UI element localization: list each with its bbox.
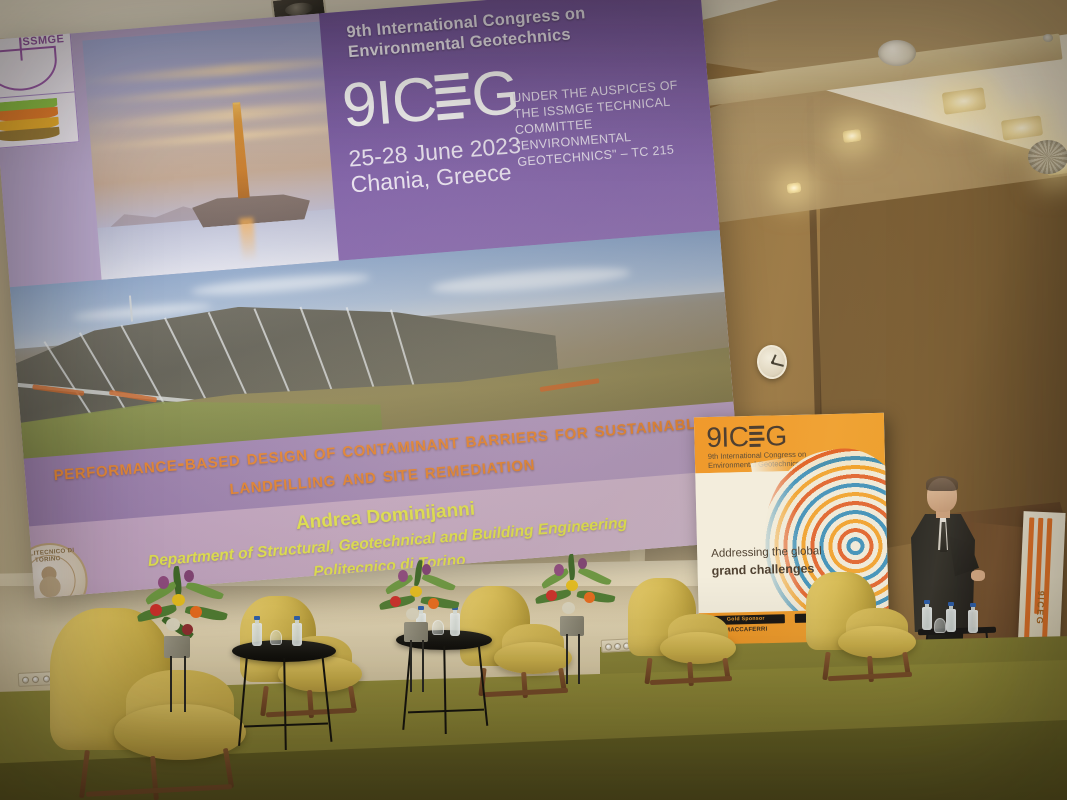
poster-logo-prefix: 9IC	[706, 421, 749, 454]
conference-hall-photo: 9th International Congress on Environmen…	[0, 0, 1067, 800]
water-bottle[interactable]	[292, 616, 302, 646]
projection-screen: 9th International Congress on Environmen…	[0, 0, 745, 598]
poster-logo-suffix: G	[765, 420, 787, 453]
poster-9iceg-logo: 9IC G	[706, 420, 787, 454]
side-table[interactable]	[232, 640, 336, 750]
flower-arrangement	[370, 556, 470, 676]
podium-logo-text: 9ICEG	[1035, 591, 1046, 626]
e-bars-glyph	[435, 71, 473, 126]
water-bottle	[946, 602, 956, 632]
ceiling-indicator-light	[842, 129, 861, 143]
slide-9iceg-logo: 9IC G	[340, 64, 521, 137]
ceiling-speaker	[878, 40, 916, 66]
ceiling-sensor	[1043, 34, 1053, 42]
poster-tagline-line1: Addressing the global	[711, 544, 831, 562]
slide-auspices-text: UNDER THE AUSPICES OF THE ISSMGE TECHNIC…	[512, 75, 708, 170]
armchair[interactable]	[800, 572, 920, 684]
e-bars-glyph	[749, 425, 765, 449]
issmge-logo-icon	[0, 46, 59, 94]
water-bottle[interactable]	[252, 616, 262, 646]
slide-congress-header: 9th International Congress on Environmen…	[346, 0, 648, 63]
logo-prefix: 9IC	[340, 71, 438, 137]
flower-arrangement	[528, 552, 624, 668]
slide-date-location: 25-28 June 2023 Chania, Greece	[348, 132, 524, 199]
soil-layers-icon	[0, 98, 60, 143]
drinking-glass	[934, 618, 946, 633]
water-bottle	[922, 600, 932, 630]
ceiling-vent	[1028, 140, 1067, 174]
drinking-glass[interactable]	[270, 630, 282, 645]
armchair[interactable]	[622, 578, 738, 686]
water-bottle	[968, 603, 978, 633]
ceiling-indicator-light	[786, 182, 801, 194]
flower-arrangement	[128, 560, 238, 690]
issmge-logo-card: ISSMGE	[0, 28, 79, 150]
